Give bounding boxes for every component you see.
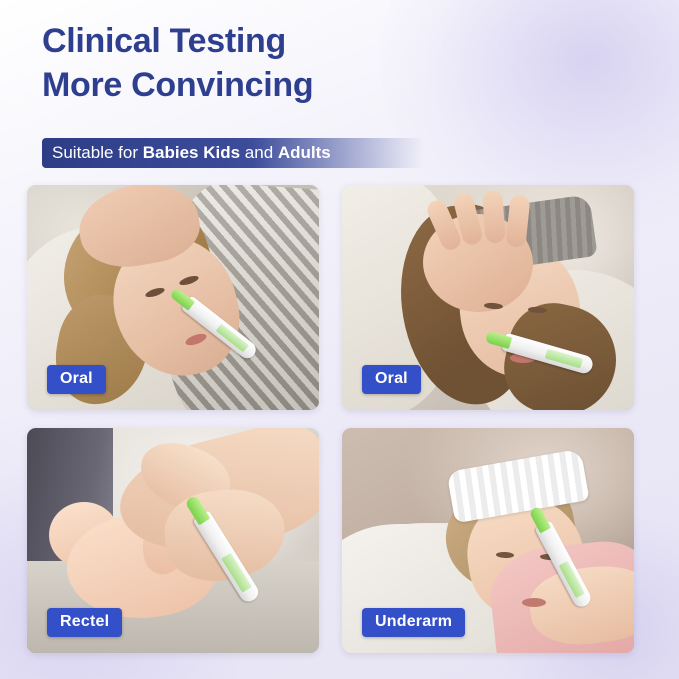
subtitle-connector: and bbox=[240, 143, 278, 162]
tile-tag-rectal: Rectel bbox=[47, 608, 122, 637]
tile-underarm-girl: Underarm bbox=[342, 428, 634, 653]
tile-oral-woman: Oral bbox=[342, 185, 634, 410]
product-poster: Clinical Testing More Convincing Suitabl… bbox=[0, 0, 679, 679]
finger-3 bbox=[482, 190, 506, 243]
subtitle-word-adults: Adults bbox=[278, 143, 331, 162]
tile-tag-underarm: Underarm bbox=[362, 608, 465, 637]
girl-mouth bbox=[522, 598, 546, 607]
subtitle-text: Suitable for Babies Kids and Adults bbox=[52, 143, 331, 163]
tile-tag-oral-woman: Oral bbox=[362, 365, 421, 394]
subtitle-banner: Suitable for Babies Kids and Adults bbox=[42, 138, 424, 168]
subtitle-word-kids: Kids bbox=[203, 143, 240, 162]
photo-grid: Oral bbox=[27, 185, 652, 653]
tile-oral-child: Oral bbox=[27, 185, 319, 410]
tile-rectal-baby: Rectel bbox=[27, 428, 319, 653]
subtitle-word-babies: Babies bbox=[143, 143, 199, 162]
subtitle-prefix: Suitable for bbox=[52, 143, 143, 162]
page-title: Clinical Testing More Convincing bbox=[42, 20, 313, 107]
tile-tag-oral-child: Oral bbox=[47, 365, 106, 394]
